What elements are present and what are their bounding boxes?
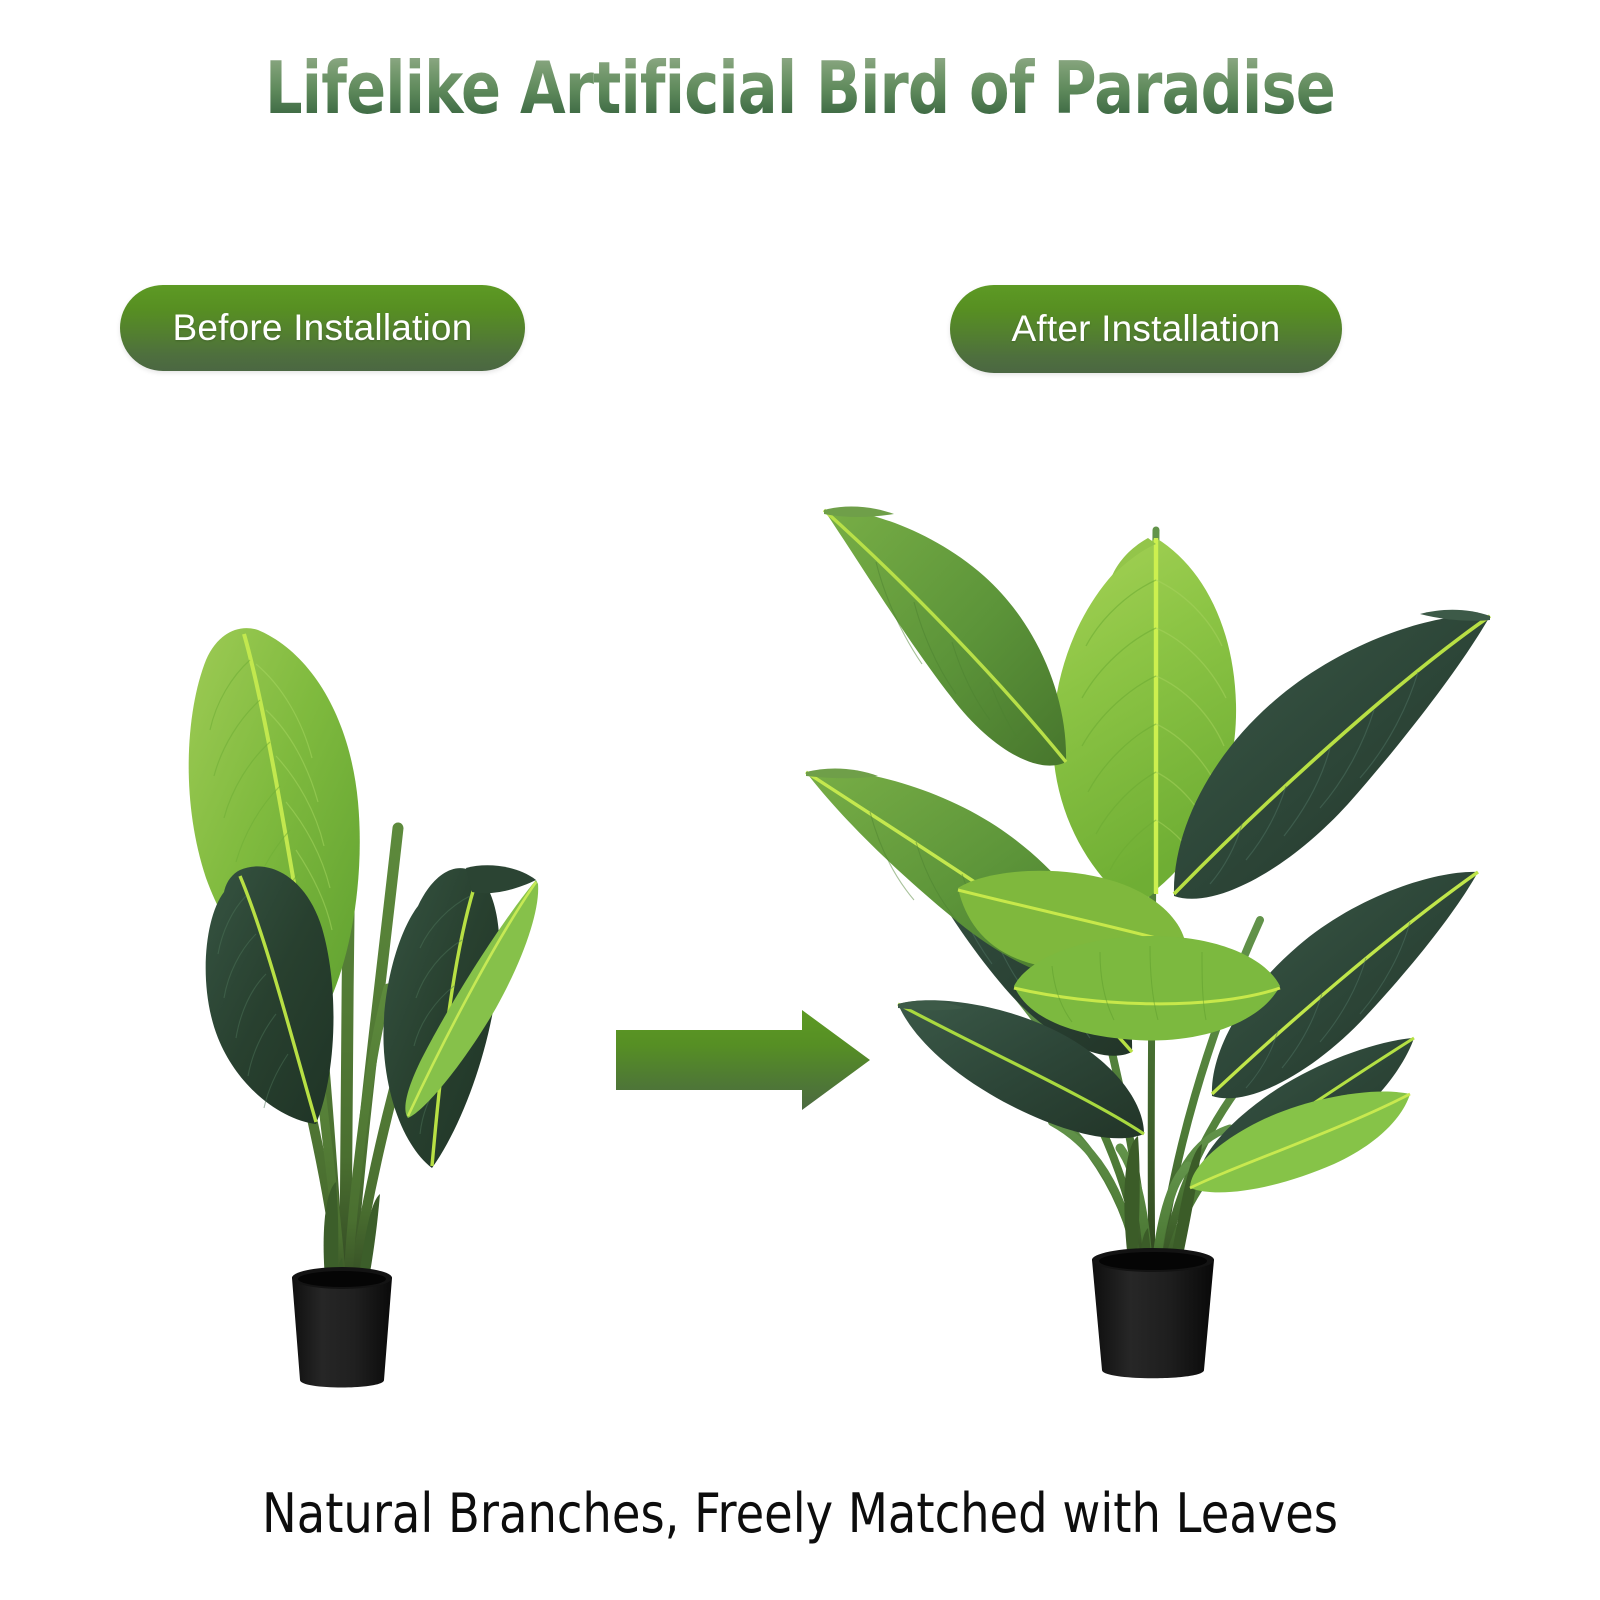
footer-caption: Natural Branches, Freely Matched with Le… (112, 1482, 1488, 1545)
page-title: Lifelike Artificial Bird of Paradise (144, 52, 1456, 124)
plant-image-before (140, 590, 560, 1390)
plant-image-after (790, 380, 1510, 1390)
badge-after-installation: After Installation (950, 285, 1342, 373)
badge-before-installation: Before Installation (120, 285, 525, 371)
right-arrow-icon (612, 1008, 874, 1112)
badge-after-label: After Installation (1012, 308, 1281, 350)
plant-leaf (824, 507, 1066, 766)
badge-before-label: Before Installation (173, 307, 473, 349)
plant-pot (292, 1267, 392, 1388)
plant-pot (1092, 1248, 1214, 1378)
